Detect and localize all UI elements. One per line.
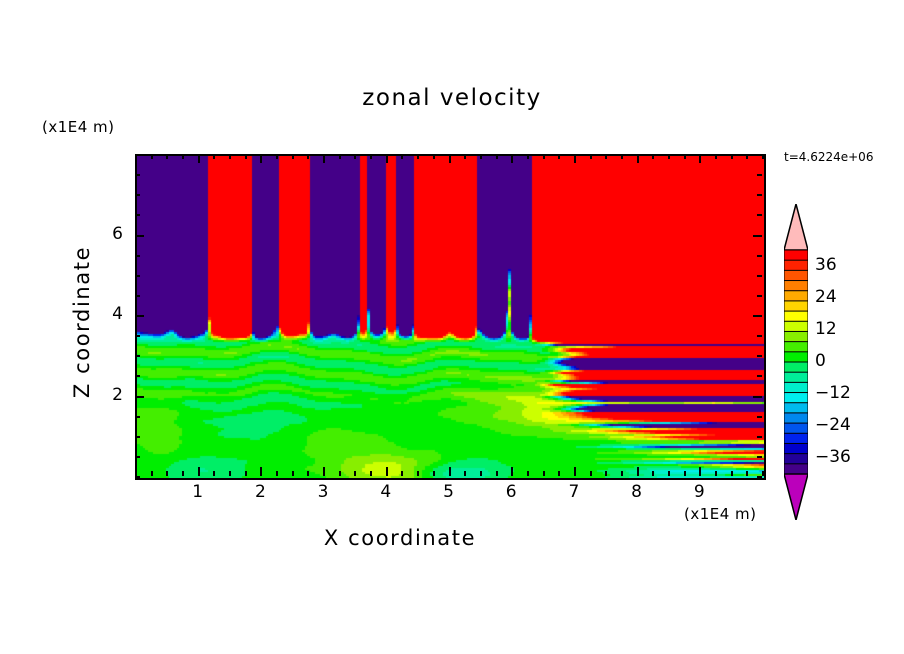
colorbar-band xyxy=(784,413,808,424)
x-tick-bottom xyxy=(543,471,545,476)
page-title: zonal velocity xyxy=(0,85,904,111)
y-tick-left xyxy=(135,255,140,257)
x-tick-top xyxy=(417,154,419,159)
x-tick-top xyxy=(668,154,670,159)
x-tick-bottom xyxy=(590,471,592,476)
x-tick-bottom xyxy=(699,467,701,476)
colorbar-tick-label: 0 xyxy=(815,351,826,371)
contour-figure: zonal velocity (x1E4 m) t=4.6224e+06 123… xyxy=(0,0,904,654)
colorbar-tick-label: −12 xyxy=(815,383,851,403)
colorbar-cap-top xyxy=(784,204,808,250)
x-tick-label: 5 xyxy=(429,482,469,502)
y-tick-left xyxy=(135,396,144,398)
x-tick-label: 4 xyxy=(366,482,406,502)
x-tick-bottom xyxy=(668,471,670,476)
colorbar-band xyxy=(784,464,808,475)
y-tick-left xyxy=(135,375,140,377)
x-tick-bottom xyxy=(464,471,466,476)
x-tick-bottom xyxy=(292,471,294,476)
x-tick-bottom xyxy=(715,471,717,476)
plot-area xyxy=(135,154,766,480)
y-tick-left xyxy=(135,315,144,317)
x-tick-top xyxy=(590,154,592,159)
colorbar-tick-label: −24 xyxy=(815,415,851,435)
colorbar-cap-bottom xyxy=(784,474,808,520)
colorbar-gradient xyxy=(784,204,808,520)
y-tick-left xyxy=(135,235,144,237)
x-tick-bottom xyxy=(684,471,686,476)
colorbar-band xyxy=(784,342,808,353)
x-tick-label: 6 xyxy=(491,482,531,502)
colorbar-band xyxy=(784,433,808,444)
x-tick-top xyxy=(496,154,498,159)
y-tick-right xyxy=(757,355,762,357)
colorbar-tick-label: −36 xyxy=(815,447,851,467)
y-tick-left xyxy=(135,476,140,478)
colorbar-band xyxy=(784,250,808,261)
y-tick-right xyxy=(757,295,762,297)
colorbar-band xyxy=(784,270,808,281)
x-tick-bottom xyxy=(511,467,513,476)
y-tick-left xyxy=(135,275,140,277)
x-tick-top xyxy=(652,154,654,159)
x-tick-top xyxy=(198,154,200,163)
y-tick-right xyxy=(757,194,762,196)
x-tick-top xyxy=(605,154,607,159)
x-tick-top xyxy=(543,154,545,159)
y-tick-right xyxy=(753,235,762,237)
x-tick-bottom xyxy=(386,467,388,476)
x-tick-bottom xyxy=(449,467,451,476)
x-tick-top xyxy=(746,154,748,159)
y-axis-title: Z coordinate xyxy=(70,202,94,442)
colorbar xyxy=(784,204,808,520)
y-tick-left xyxy=(135,214,140,216)
x-tick-label: 8 xyxy=(617,482,657,502)
x-tick-bottom xyxy=(621,471,623,476)
colorbar-band xyxy=(784,423,808,434)
colorbar-tick-label: 24 xyxy=(815,287,837,307)
y-tick-left xyxy=(135,335,140,337)
colorbar-band xyxy=(784,281,808,292)
x-tick-bottom xyxy=(480,471,482,476)
timestamp-annotation: t=4.6224e+06 xyxy=(784,150,873,164)
x-tick-bottom xyxy=(746,471,748,476)
y-tick-right xyxy=(757,275,762,277)
colorbar-band xyxy=(784,352,808,363)
x-tick-bottom xyxy=(213,471,215,476)
x-tick-label: 9 xyxy=(679,482,719,502)
colorbar-band xyxy=(784,260,808,271)
x-tick-bottom xyxy=(605,471,607,476)
y-tick-right xyxy=(757,174,762,176)
colorbar-band xyxy=(784,382,808,393)
x-tick-top xyxy=(762,154,764,159)
x-tick-bottom xyxy=(166,471,168,476)
x-tick-bottom xyxy=(433,471,435,476)
y-tick-right xyxy=(757,456,762,458)
x-tick-bottom xyxy=(229,471,231,476)
y-axis-units-label: (x1E4 m) xyxy=(42,118,115,136)
y-tick-right xyxy=(757,255,762,257)
colorbar-band xyxy=(784,301,808,312)
x-tick-top xyxy=(715,154,717,159)
x-tick-top xyxy=(621,154,623,159)
colorbar-tick-label: 12 xyxy=(815,319,837,339)
x-tick-bottom xyxy=(307,471,309,476)
x-tick-top xyxy=(433,154,435,159)
colorbar-band xyxy=(784,443,808,454)
x-tick-top xyxy=(229,154,231,159)
colorbar-band xyxy=(784,362,808,373)
colorbar-band xyxy=(784,393,808,404)
y-tick-left xyxy=(135,436,140,438)
x-tick-top xyxy=(637,154,639,163)
colorbar-band xyxy=(784,372,808,383)
x-tick-bottom xyxy=(323,467,325,476)
colorbar-band xyxy=(784,403,808,414)
colorbar-band xyxy=(784,321,808,332)
y-tick-left xyxy=(135,456,140,458)
x-tick-bottom xyxy=(558,471,560,476)
x-tick-bottom xyxy=(652,471,654,476)
x-tick-label: 7 xyxy=(554,482,594,502)
x-tick-top xyxy=(182,154,184,159)
x-tick-top xyxy=(731,154,733,159)
x-axis-title: X coordinate xyxy=(0,526,800,550)
y-tick-right xyxy=(757,476,762,478)
x-tick-top xyxy=(151,154,153,159)
x-tick-top xyxy=(276,154,278,159)
x-tick-top xyxy=(292,154,294,159)
y-tick-right xyxy=(753,315,762,317)
x-tick-label: 1 xyxy=(178,482,218,502)
y-tick-left xyxy=(135,174,140,176)
x-tick-top xyxy=(699,154,701,163)
x-tick-bottom xyxy=(151,471,153,476)
x-tick-bottom xyxy=(182,471,184,476)
x-tick-bottom xyxy=(198,467,200,476)
x-tick-top xyxy=(684,154,686,159)
y-tick-right xyxy=(757,335,762,337)
x-tick-bottom xyxy=(276,471,278,476)
x-tick-top xyxy=(213,154,215,159)
y-tick-right xyxy=(757,154,762,156)
x-tick-top xyxy=(245,154,247,159)
x-tick-top xyxy=(574,154,576,163)
x-tick-label: 3 xyxy=(303,482,343,502)
y-tick-right xyxy=(753,396,762,398)
x-tick-top xyxy=(480,154,482,159)
x-tick-label: 2 xyxy=(240,482,280,502)
x-tick-top xyxy=(323,154,325,163)
x-tick-top xyxy=(464,154,466,159)
x-tick-top xyxy=(339,154,341,159)
x-tick-bottom xyxy=(762,471,764,476)
x-tick-bottom xyxy=(417,471,419,476)
x-tick-top xyxy=(370,154,372,159)
colorbar-band xyxy=(784,331,808,342)
x-tick-top xyxy=(449,154,451,163)
x-tick-bottom xyxy=(339,471,341,476)
colorbar-band xyxy=(784,454,808,465)
x-tick-bottom xyxy=(354,471,356,476)
x-tick-bottom xyxy=(637,467,639,476)
x-tick-bottom xyxy=(370,471,372,476)
colorbar-band xyxy=(784,311,808,322)
x-tick-bottom xyxy=(245,471,247,476)
x-tick-top xyxy=(511,154,513,163)
x-tick-top xyxy=(260,154,262,163)
y-tick-left xyxy=(135,355,140,357)
y-tick-right xyxy=(757,375,762,377)
x-tick-top xyxy=(307,154,309,159)
x-tick-bottom xyxy=(527,471,529,476)
x-tick-bottom xyxy=(401,471,403,476)
x-tick-top xyxy=(558,154,560,159)
x-tick-top xyxy=(354,154,356,159)
y-tick-right xyxy=(757,214,762,216)
y-tick-left xyxy=(135,416,140,418)
x-tick-bottom xyxy=(496,471,498,476)
colorbar-band xyxy=(784,291,808,302)
colorbar-tick-label: 36 xyxy=(815,255,837,275)
y-tick-left xyxy=(135,295,140,297)
x-tick-top xyxy=(166,154,168,159)
x-tick-top xyxy=(527,154,529,159)
contour-field xyxy=(137,156,764,478)
y-tick-right xyxy=(757,436,762,438)
x-tick-bottom xyxy=(260,467,262,476)
y-tick-left xyxy=(135,154,140,156)
x-axis-units-label: (x1E4 m) xyxy=(684,505,757,523)
y-tick-left xyxy=(135,194,140,196)
y-tick-right xyxy=(757,416,762,418)
x-tick-bottom xyxy=(731,471,733,476)
x-tick-top xyxy=(401,154,403,159)
x-tick-top xyxy=(386,154,388,163)
x-tick-bottom xyxy=(574,467,576,476)
